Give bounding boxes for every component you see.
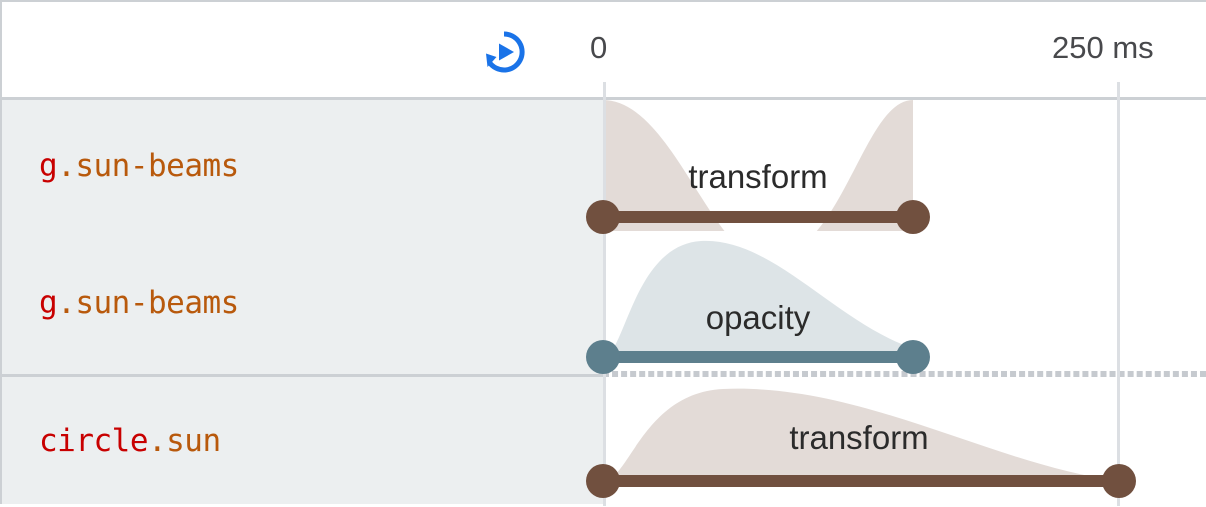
animation-rows: g.sun-beams transform g.sun-beams bbox=[2, 100, 1206, 504]
animation-row-selector: g.sun-beams bbox=[2, 231, 603, 374]
animation-start-handle[interactable] bbox=[586, 200, 620, 234]
selector-element: g bbox=[39, 148, 57, 184]
timeline-header: 0 250 ms bbox=[2, 2, 1206, 100]
selector-text: circle.sun bbox=[39, 423, 221, 459]
animation-end-handle[interactable] bbox=[1102, 464, 1136, 498]
replay-icon-glyph bbox=[480, 28, 528, 76]
animations-panel: 0 250 ms g.sun-beams transfo bbox=[0, 0, 1206, 504]
animation-bar-line bbox=[603, 351, 913, 363]
animation-bar-line bbox=[603, 211, 913, 223]
selector-class: .sun-beams bbox=[57, 285, 239, 321]
selector-text: g.sun-beams bbox=[39, 148, 239, 184]
selector-element: circle bbox=[39, 423, 148, 459]
selector-class: .sun bbox=[148, 423, 221, 459]
animation-row-selector: g.sun-beams bbox=[2, 100, 603, 231]
tick-label-250: 250 ms bbox=[1052, 30, 1154, 66]
replay-icon[interactable] bbox=[480, 28, 528, 76]
animation-start-handle[interactable] bbox=[586, 340, 620, 374]
selector-element: g bbox=[39, 285, 57, 321]
selector-class: .sun-beams bbox=[57, 148, 239, 184]
selector-text: g.sun-beams bbox=[39, 285, 239, 321]
tick-label-0: 0 bbox=[590, 30, 607, 66]
animation-track-area[interactable]: transform bbox=[603, 100, 1206, 231]
animation-row[interactable]: circle.sun transform bbox=[2, 374, 1206, 504]
animation-property-label: transform bbox=[789, 419, 928, 457]
animation-row-selector: circle.sun bbox=[2, 374, 603, 504]
animation-track-area[interactable]: transform bbox=[603, 374, 1206, 504]
animation-row[interactable]: g.sun-beams opacity bbox=[2, 231, 1206, 374]
animation-property-label: transform bbox=[688, 158, 827, 196]
animation-end-handle[interactable] bbox=[896, 200, 930, 234]
animation-row[interactable]: g.sun-beams transform bbox=[2, 100, 1206, 231]
animation-track-area[interactable]: opacity bbox=[603, 231, 1206, 374]
animation-end-handle[interactable] bbox=[896, 340, 930, 374]
animation-property-label: opacity bbox=[706, 299, 811, 337]
animation-bar-line bbox=[603, 475, 1119, 487]
animation-start-handle[interactable] bbox=[586, 464, 620, 498]
